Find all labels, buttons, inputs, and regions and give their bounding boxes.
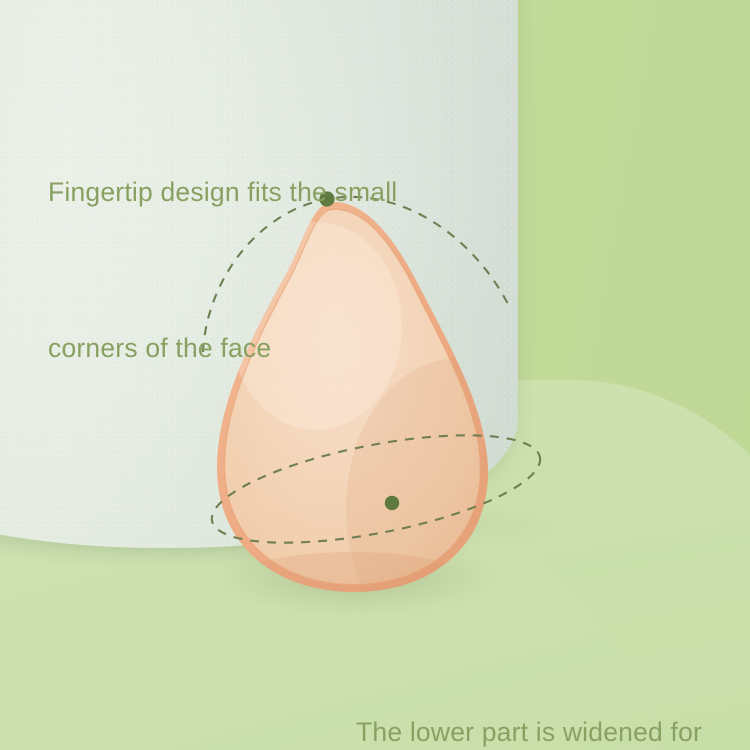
product-feature-image: Fingertip design fits the small corners …: [0, 0, 750, 750]
width-highlight-dot: [385, 496, 399, 510]
caption-top-line-1: Fingertip design fits the small: [48, 166, 397, 218]
caption-top-line-2: corners of the face: [48, 322, 397, 374]
caption-top: Fingertip design fits the small corners …: [48, 62, 397, 478]
caption-bottom-line-1: The lower part is widened for: [356, 706, 702, 750]
caption-bottom: The lower part is widened for quick make…: [356, 602, 702, 750]
